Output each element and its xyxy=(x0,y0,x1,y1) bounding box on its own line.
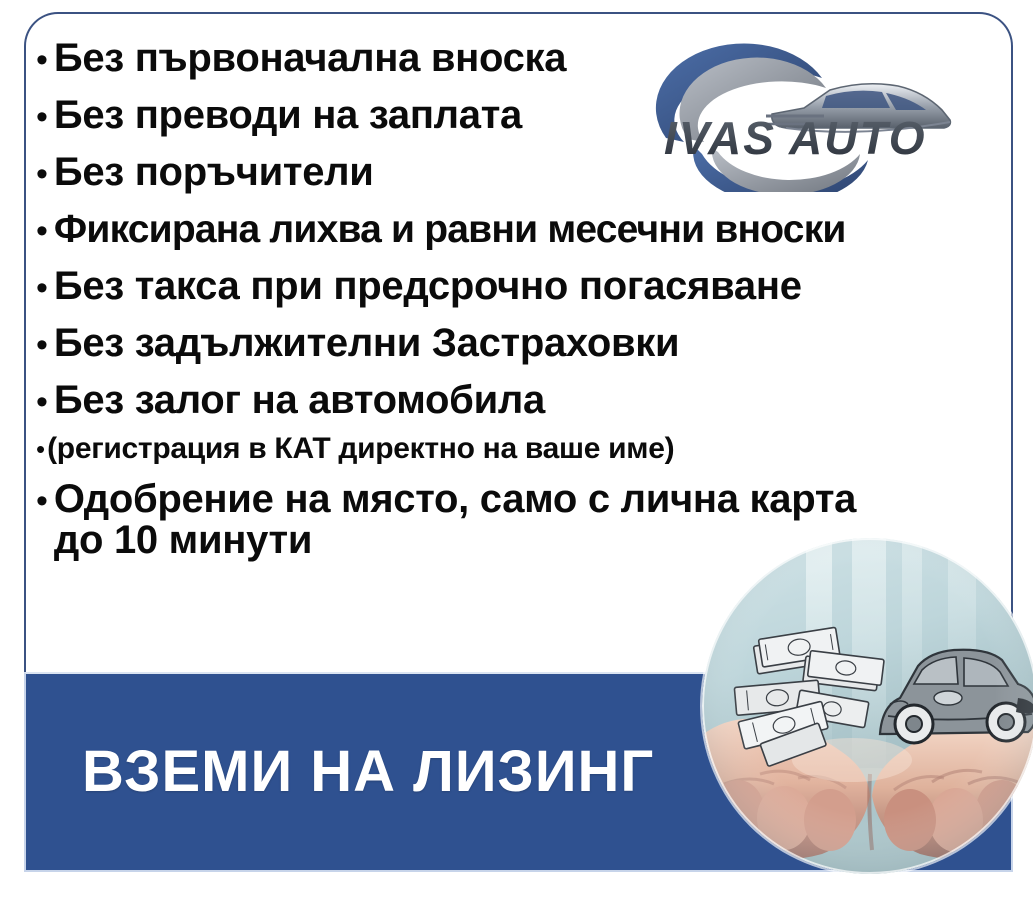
list-item-label: Без залог на автомобила xyxy=(54,380,545,421)
list-item-label: Одобрение на място, само с лична карта д… xyxy=(54,479,856,561)
leasing-advertisement-poster: • Без първоначална вноска • Без преводи … xyxy=(0,0,1033,902)
list-item-label: Без такса при предсрочно погасяване xyxy=(54,266,802,307)
list-item: • Фиксирана лихва и равни месечни вноски xyxy=(36,210,1033,250)
list-item-label: Фиксирана лихва и равни месечни вноски xyxy=(54,210,846,250)
bullet-marker-icon: • xyxy=(36,157,48,191)
list-item: • Без задължителни Застраховки xyxy=(36,323,1033,364)
list-item-label: Без първоначална вноска xyxy=(54,38,566,79)
cta-headline: ВЗЕМИ НА ЛИЗИНГ xyxy=(82,743,654,801)
logo-wordmark: IVAS AUTO xyxy=(664,112,927,164)
bullet-marker-icon: • xyxy=(36,271,48,305)
list-item: • Без такса при предсрочно погасяване xyxy=(36,266,1033,307)
bullet-marker-icon: • xyxy=(36,214,48,248)
bullet-marker-icon: • xyxy=(36,43,48,77)
bullet-marker-icon: • xyxy=(36,436,45,462)
ivas-auto-logo: IVAS AUTO xyxy=(654,42,972,192)
bullet-marker-icon: • xyxy=(36,328,48,362)
list-item-note-label: (регистрация в КАТ директно на ваше име) xyxy=(47,434,674,465)
bullet-marker-icon: • xyxy=(36,484,48,518)
bullet-marker-icon: • xyxy=(36,385,48,419)
bullet-marker-icon: • xyxy=(36,100,48,134)
list-item: • Без залог на автомобила xyxy=(36,380,1033,421)
list-item-note: • (регистрация в КАТ директно на ваше им… xyxy=(36,434,1033,465)
list-item-label: Без преводи на заплата xyxy=(54,95,522,136)
list-item-label: Без задължителни Застраховки xyxy=(54,323,679,364)
hands-money-car-photo xyxy=(702,538,1033,874)
list-item-label: Без поръчители xyxy=(54,152,374,193)
